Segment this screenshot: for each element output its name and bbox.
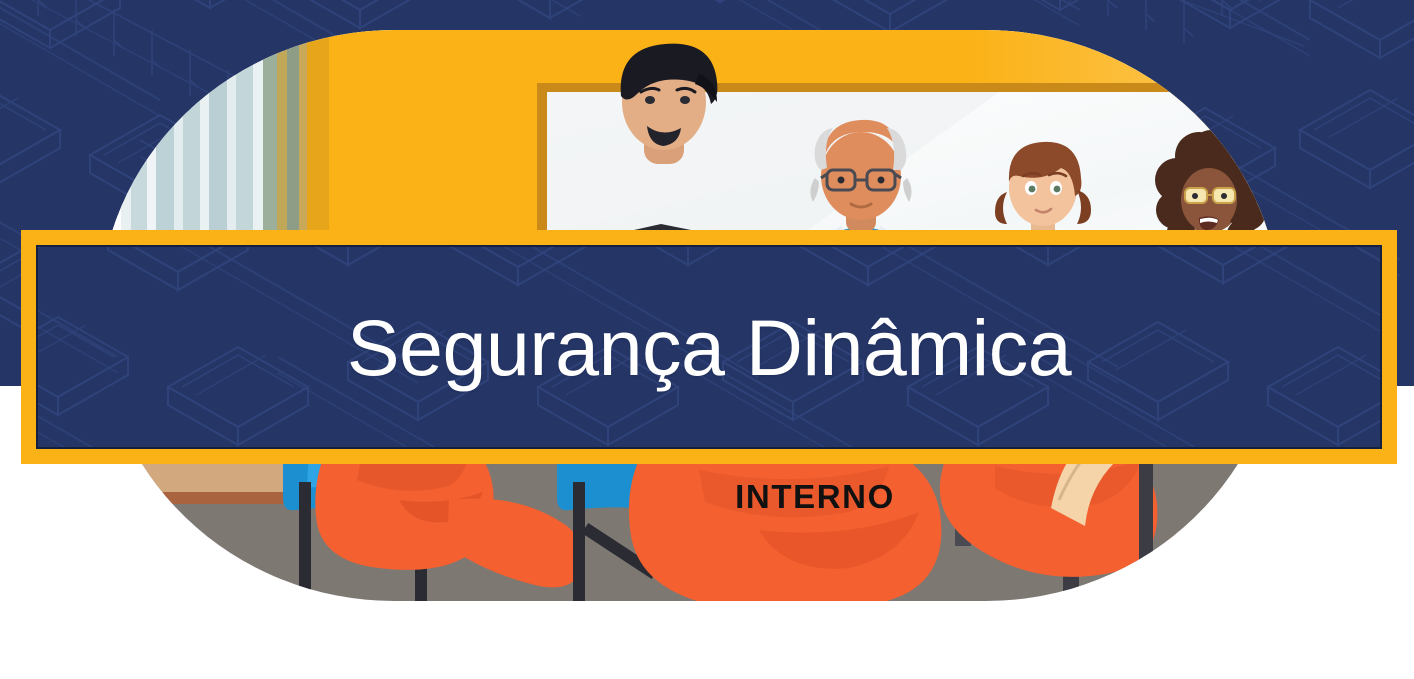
slide-root: INTERNO xyxy=(0,0,1414,679)
title-banner: Segurança Dinâmica xyxy=(21,230,1397,464)
title-banner-inner: Segurança Dinâmica xyxy=(36,245,1382,449)
inmate-back-label: INTERNO xyxy=(735,478,895,515)
page-title: Segurança Dinâmica xyxy=(347,308,1071,387)
